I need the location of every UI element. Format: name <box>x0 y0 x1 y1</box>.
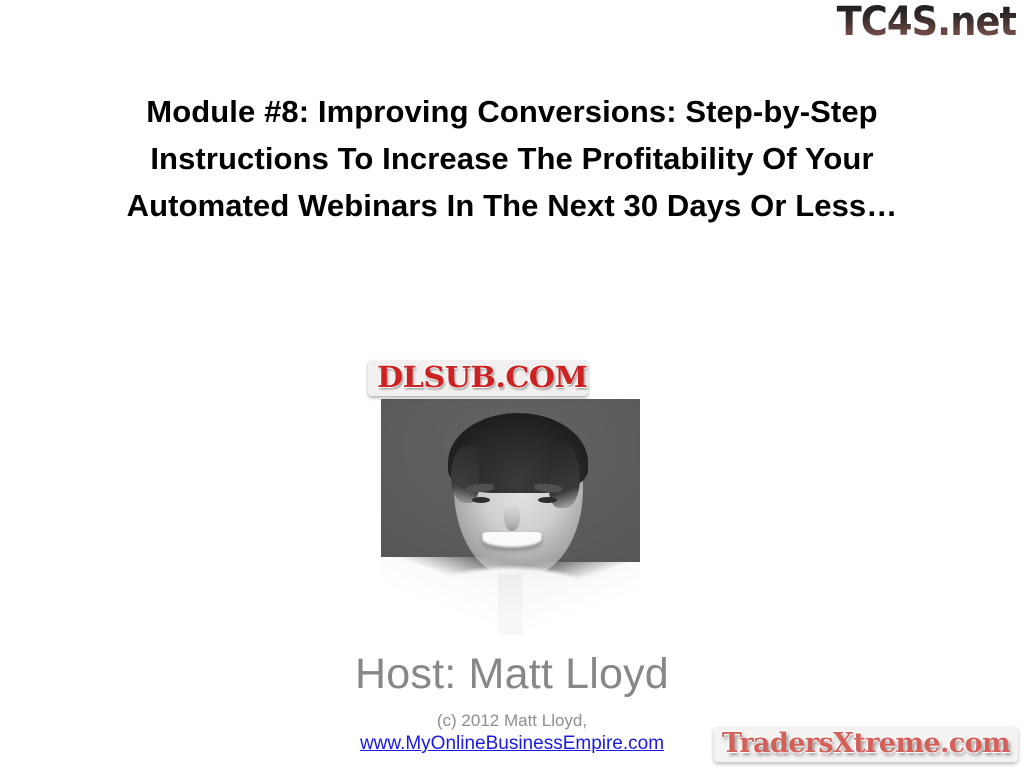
tradersxtreme-watermark: TradersXtreme.com <box>714 727 1018 762</box>
title-line-2: Instructions To Increase The Profitabili… <box>62 135 962 182</box>
host-name: Host: Matt Lloyd <box>0 650 1024 698</box>
tradersxtreme-watermark-text: TradersXtreme.com <box>722 730 1010 757</box>
dlsub-watermark: DLSUB.COM <box>368 360 588 396</box>
portrait-shirt-right-shoulder <box>505 562 640 635</box>
portrait-nose <box>504 505 520 531</box>
title-line-3: Automated Webinars In The Next 30 Days O… <box>62 182 962 229</box>
title-line-1: Module #8: Improving Conversions: Step-b… <box>62 88 962 135</box>
slide-title: Module #8: Improving Conversions: Step-b… <box>62 88 962 229</box>
presentation-slide: TC4S.net Module #8: Improving Conversion… <box>0 0 1024 768</box>
tc4s-brand-logo: TC4S.net <box>836 2 1016 42</box>
portrait-smile <box>482 532 542 549</box>
host-portrait-photo <box>381 399 640 635</box>
portrait-hair-left <box>451 446 479 503</box>
dlsub-watermark-text: DLSUB.COM <box>377 363 587 392</box>
portrait-shirt-collar <box>498 574 524 635</box>
